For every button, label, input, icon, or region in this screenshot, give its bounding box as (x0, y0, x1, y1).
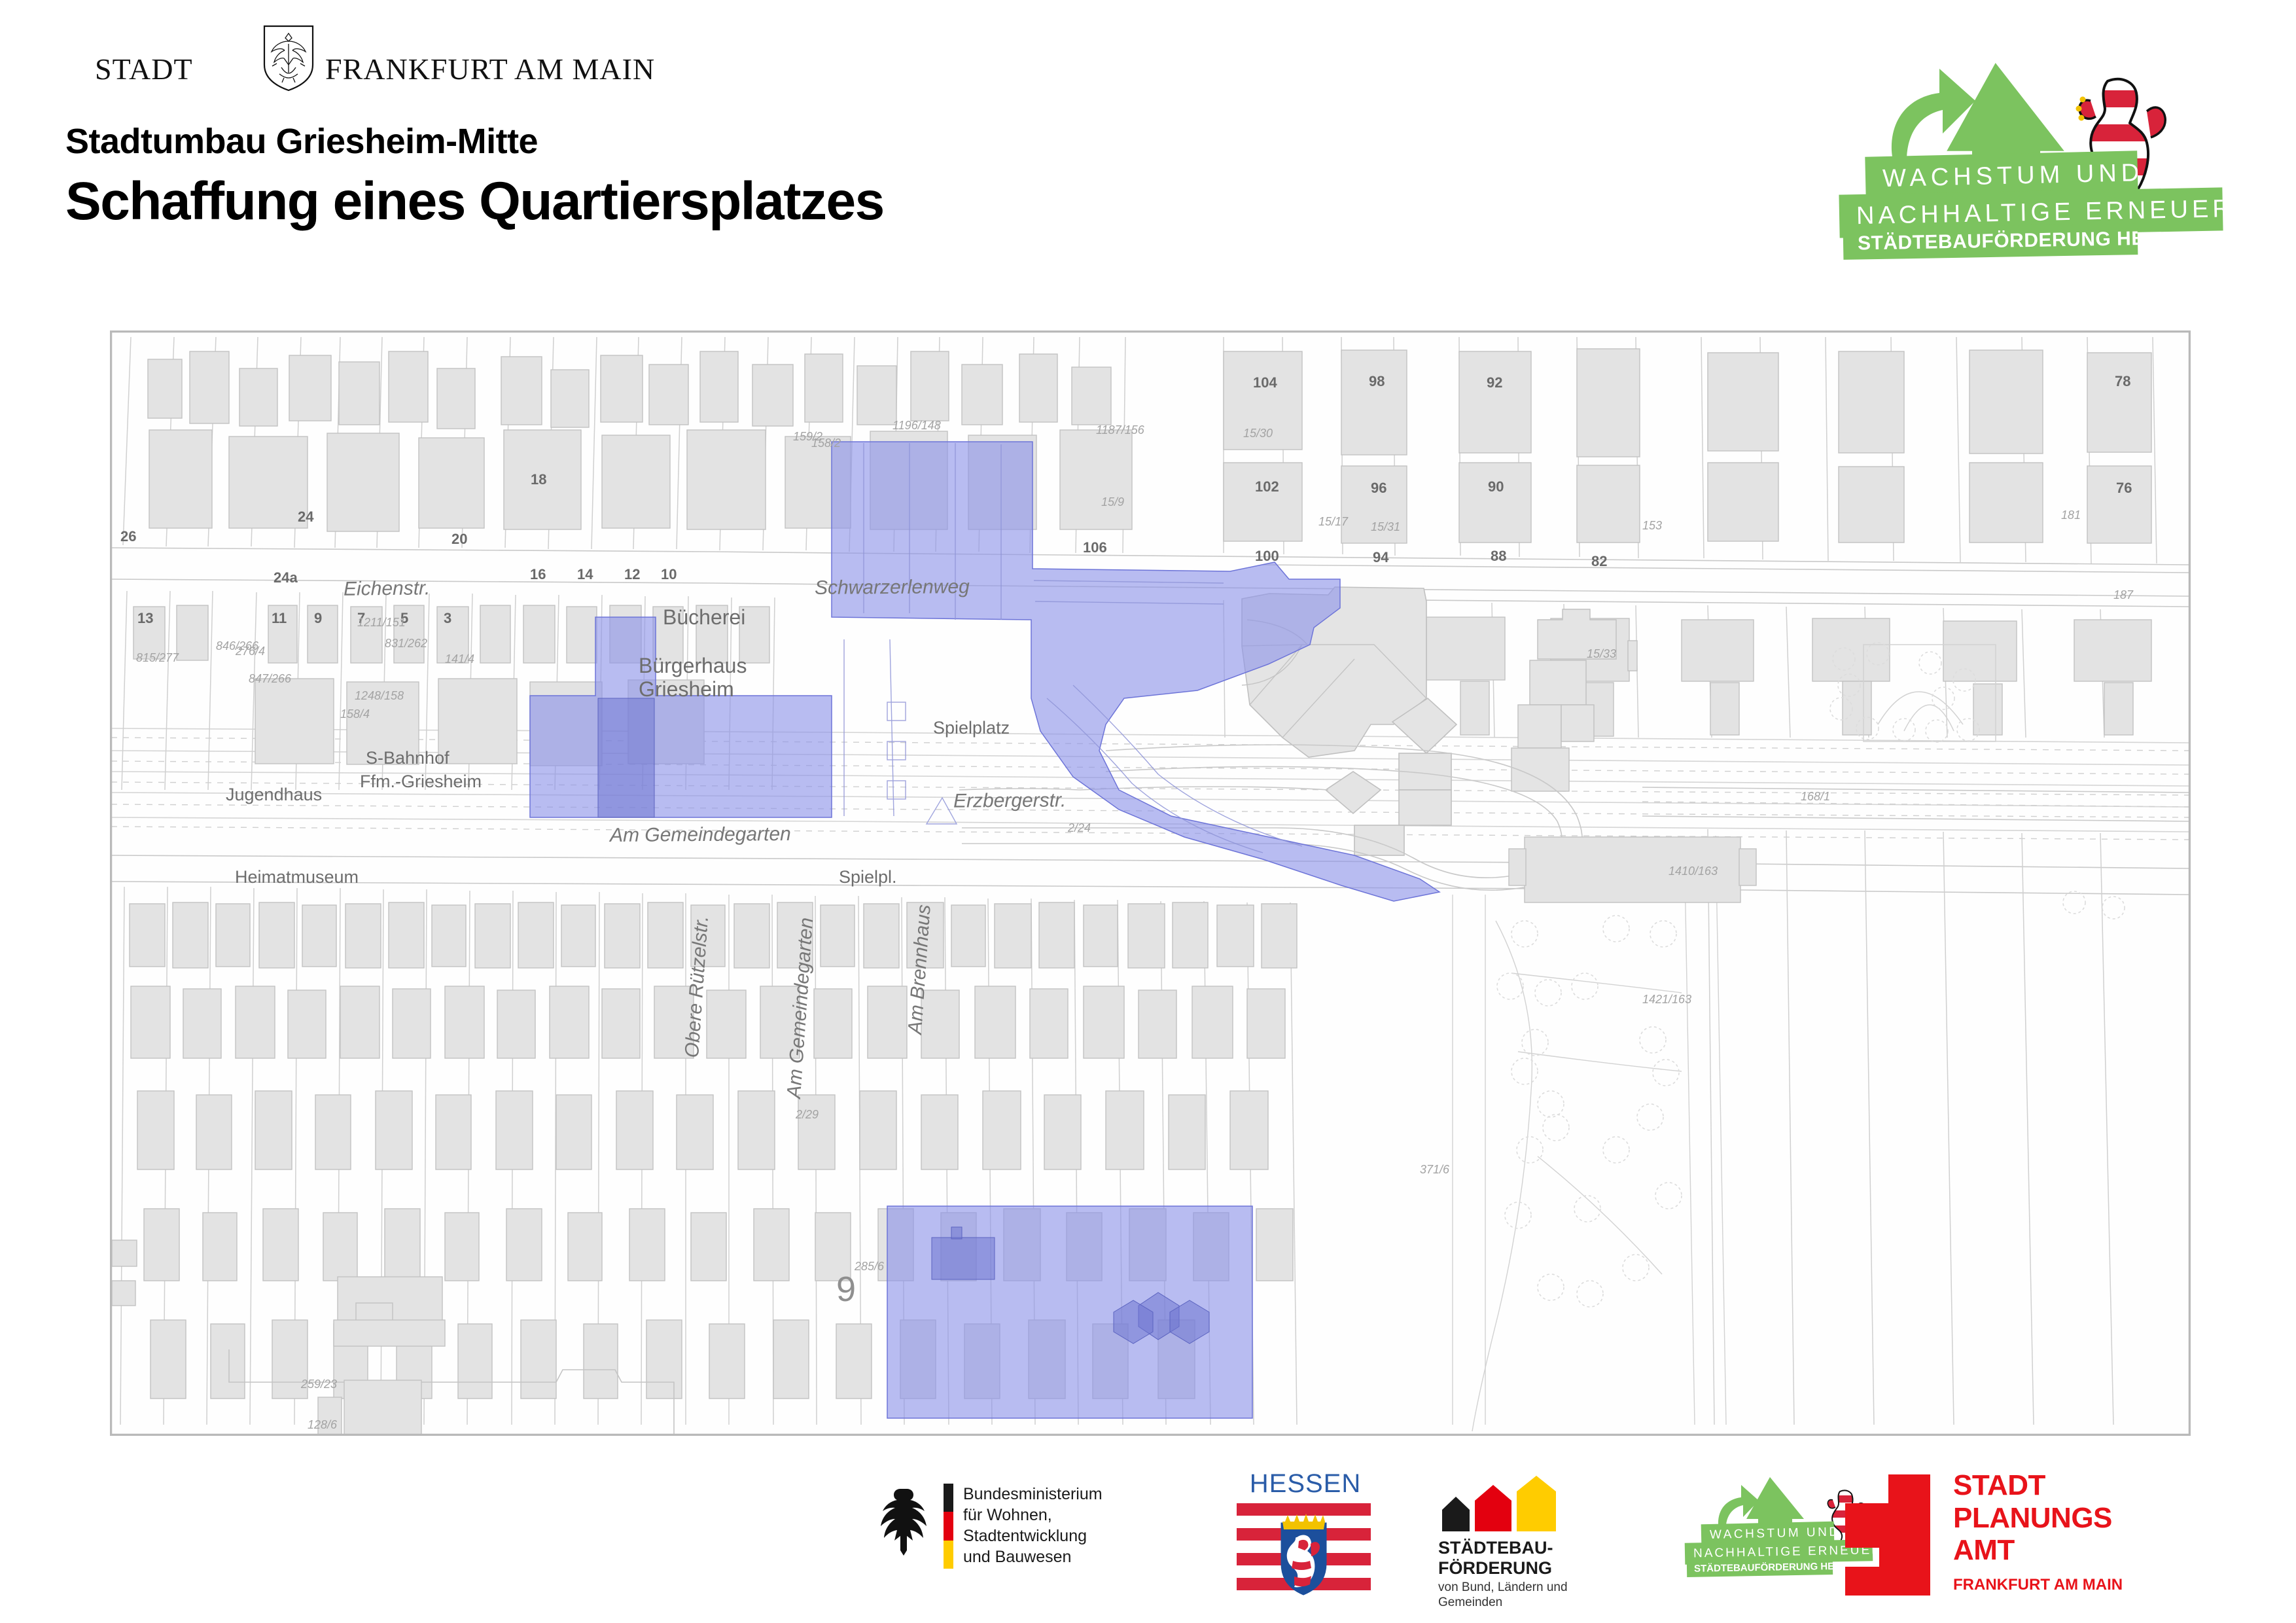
parcel-number: 159/2 (793, 430, 822, 444)
parcel-number: 1187/156 (1096, 423, 1144, 437)
house-number: 20 (451, 531, 467, 548)
hessen-flag-icon (1237, 1503, 1371, 1605)
map-big-number: 9 (836, 1269, 856, 1310)
staedtebau-title: STÄDTEBAU- FÖRDERUNG (1438, 1538, 1553, 1578)
parcel-number: 259/23 (301, 1378, 337, 1391)
parcel-number: 846/266 (216, 639, 258, 653)
street-label-eichenstr: Eichenstr. (344, 577, 431, 600)
bmwsb-line-2: für Wohnen, Stadtentwicklung (963, 1505, 1178, 1546)
house-number: 10 (661, 566, 677, 583)
spa-line-3: AMT (1953, 1534, 2123, 1567)
bundesadler-icon (870, 1484, 930, 1556)
bmwsb-logo: Bundesministerium für Wohnen, Stadtentwi… (870, 1469, 1178, 1607)
stadtplanungsamt-logo: STADT PLANUNGS AMT FRANKFURT AM MAIN (1845, 1469, 2185, 1607)
hessen-logo: HESSEN (1230, 1469, 1381, 1607)
project-program-line: Stadtumbau Griesheim-Mitte (65, 121, 884, 162)
parcel-number: 141/4 (445, 652, 474, 666)
house-number: 26 (120, 528, 136, 545)
house-number: 3 (444, 610, 451, 627)
hessen-wordmark: HESSEN (1230, 1469, 1381, 1499)
house-number: 92 (1487, 374, 1502, 391)
parcel-number: 831/262 (385, 637, 427, 651)
staedtebau-subtitle: von Bund, Ländern und Gemeinden (1438, 1580, 1568, 1611)
street-label-am-gemeindegarten: Am Gemeindegarten (610, 823, 791, 847)
parcel-number: 168/1 (1801, 790, 1830, 804)
parcel-number: 1421/163 (1642, 993, 1691, 1007)
poi-label-griesheim: Griesheim (639, 677, 734, 702)
bmwsb-line-3: und Bauwesen (963, 1546, 1178, 1567)
house-number: 104 (1253, 374, 1277, 391)
parcel-number: 15/31 (1371, 520, 1400, 534)
program-logo-header: WACHSTUM UND NACHHALTIGE ERNEUERUNG STÄD… (1805, 46, 2250, 262)
parcel-number: 285/6 (855, 1260, 884, 1274)
parcel-number: 2/29 (796, 1108, 819, 1122)
parcel-number: 1211/151 (357, 616, 406, 630)
program-band-line3: STÄDTEBAUFÖRDERUNG HESSEN (1687, 1558, 1833, 1577)
house-number: 100 (1255, 548, 1279, 565)
poi-label-buergerhaus: Bürgerhaus (639, 654, 747, 678)
staedtebaufoerderung-logo: STÄDTEBAU- FÖRDERUNG von Bund, Ländern u… (1426, 1469, 1636, 1607)
house-number: 78 (2115, 373, 2130, 390)
staedtebau-sub-2: Gemeinden (1438, 1596, 1568, 1611)
staedtebau-line-1: STÄDTEBAU- (1438, 1538, 1553, 1558)
city-logo-part1: STADT (95, 52, 193, 86)
house-number: 24a (274, 569, 298, 586)
poi-label-ffm-griesheim: Ffm.-Griesheim (360, 772, 482, 792)
spa-line-1: STADT (1953, 1469, 2123, 1502)
house-number: 9 (314, 610, 322, 627)
house-number: 14 (577, 566, 593, 583)
staedtebau-line-2: FÖRDERUNG (1438, 1558, 1553, 1578)
program-band-line3: STÄDTEBAUFÖRDERUNG HESSEN (1843, 223, 2138, 260)
house-number: 16 (530, 566, 546, 583)
parcel-number: 187 (2113, 588, 2133, 602)
poi-label-buecherei: Bücherei (663, 605, 745, 630)
map-vector-layer (111, 332, 2189, 1435)
title-block: Stadtumbau Griesheim-Mitte Schaffung ein… (65, 121, 884, 232)
house-number: 94 (1373, 549, 1388, 566)
map-canvas (111, 332, 2189, 1435)
staedtebau-sub-1: von Bund, Ländern und (1438, 1580, 1568, 1596)
parcel-number: 128/6 (308, 1418, 337, 1432)
parcel-number: 15/17 (1318, 515, 1348, 529)
house-number: 24 (298, 508, 313, 526)
city-of-frankfurt-logo: STADT FRANKFURT AM MAIN (95, 36, 514, 92)
spa-text: STADT PLANUNGS AMT FRANKFURT AM MAIN (1953, 1469, 2123, 1594)
house-number: 76 (2116, 480, 2132, 497)
house-number: 90 (1488, 478, 1504, 495)
street-label-schwarzerlenweg: Schwarzerlenweg (815, 576, 970, 599)
page-title: Schaffung eines Quartiersplatzes (65, 171, 884, 232)
parcel-number: 15/9 (1101, 495, 1124, 509)
poi-label-s-bahnhof: S-Bahnhof (366, 748, 450, 768)
parcel-number: 1196/148 (892, 419, 941, 433)
parcel-number: 181 (2061, 508, 2081, 522)
house-number: 82 (1591, 553, 1607, 570)
parcel-number: 1248/158 (355, 689, 404, 703)
house-number: 106 (1083, 539, 1107, 556)
house-number: 102 (1255, 478, 1279, 495)
parcel-number: 815/277 (136, 651, 179, 665)
spa-subtitle: FRANKFURT AM MAIN (1953, 1576, 2123, 1594)
parcel-number: 371/6 (1420, 1163, 1449, 1177)
poi-label-jugendhaus: Jugendhaus (226, 785, 322, 805)
house-number: 13 (137, 610, 153, 627)
poi-label-heimatmuseum: Heimatmuseum (235, 867, 359, 887)
cadastral-map[interactable]: Eichenstr. Schwarzerlenweg Am Gemeindega… (110, 330, 2191, 1436)
spa-line-2: PLANUNGS (1953, 1502, 2123, 1535)
house-number: 11 (272, 610, 287, 627)
parcel-number: 15/33 (1587, 647, 1616, 661)
parcel-number: 847/266 (249, 672, 291, 686)
house-number: 96 (1371, 480, 1386, 497)
street-label-erzbergerstr: Erzbergerstr. (953, 789, 1066, 812)
parcel-number: 1410/163 (1669, 865, 1718, 878)
poi-label-spielpl: Spielpl. (839, 867, 897, 887)
parcel-number: 153 (1642, 519, 1662, 533)
spa-block-mark-icon (1845, 1474, 1930, 1596)
bmwsb-line-1: Bundesministerium (963, 1484, 1178, 1505)
page-footer: Bundesministerium für Wohnen, Stadtentwi… (0, 1469, 2296, 1623)
german-tricolor-icon (944, 1484, 953, 1569)
page-header: STADT FRANKFURT AM MAIN Stadtumbau Gries… (0, 0, 2296, 314)
parcel-number: 158/4 (340, 707, 370, 721)
bmwsb-text: Bundesministerium für Wohnen, Stadtentwi… (963, 1484, 1178, 1567)
parcel-number: 15/30 (1243, 427, 1273, 440)
city-logo-part2: FRANKFURT AM MAIN (325, 52, 655, 86)
parcel-number: 2/24 (1068, 821, 1091, 835)
house-number: 12 (624, 566, 640, 583)
house-number: 18 (531, 471, 546, 488)
house-number: 98 (1369, 373, 1385, 390)
house-number: 88 (1491, 548, 1506, 565)
three-houses-icon (1438, 1476, 1566, 1531)
poi-label-spielplatz: Spielplatz (933, 718, 1010, 738)
